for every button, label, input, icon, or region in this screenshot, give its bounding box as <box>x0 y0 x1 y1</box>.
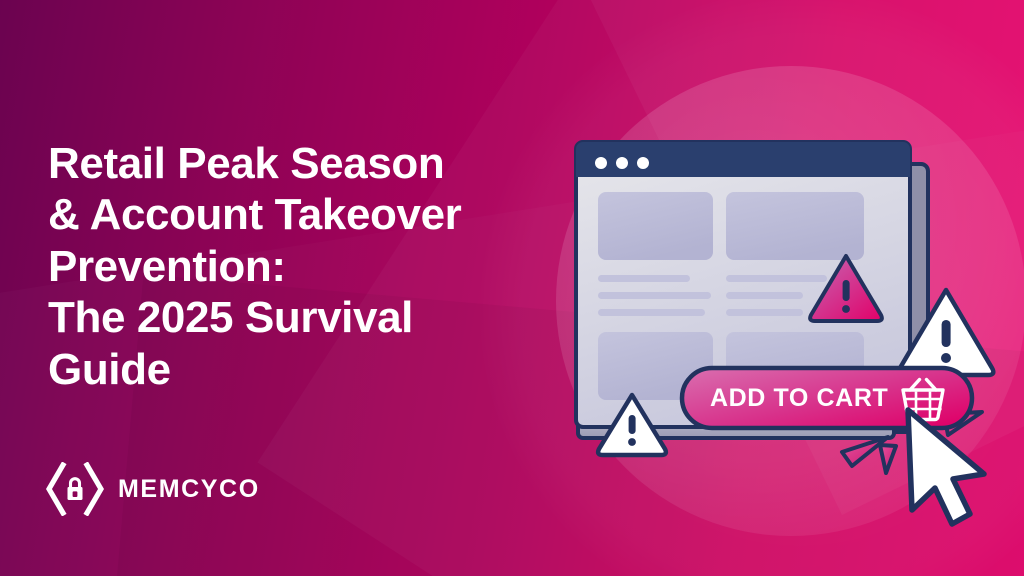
add-to-cart-button[interactable]: ADD TO CART <box>682 368 972 428</box>
content-text-line <box>598 309 705 316</box>
hero-copy: Retail Peak Season & Account Takeover Pr… <box>48 138 548 395</box>
content-card-top-left <box>598 192 713 260</box>
content-text-line <box>726 275 827 282</box>
content-text-line <box>726 309 803 316</box>
titlebar-dot-2 <box>616 157 628 169</box>
page-title: Retail Peak Season & Account Takeover Pr… <box>48 138 548 395</box>
brand-logo-lockup: MEMCYCO <box>46 462 260 516</box>
titlebar-dot-3 <box>637 157 649 169</box>
banner-stage: Retail Peak Season & Account Takeover Pr… <box>0 0 1024 576</box>
content-text-line <box>598 292 711 299</box>
content-text-line <box>598 275 690 282</box>
content-text-line <box>726 292 803 299</box>
content-card-top-right <box>726 192 864 260</box>
brand-wordmark: MEMCYCO <box>118 475 260 504</box>
titlebar-dot-1 <box>595 157 607 169</box>
hero-illustration: ADD TO CART <box>556 110 1024 576</box>
click-shard-middle <box>880 445 896 473</box>
add-to-cart-label: ADD TO CART <box>710 384 888 412</box>
shield-lock-chevron-icon <box>46 462 104 516</box>
